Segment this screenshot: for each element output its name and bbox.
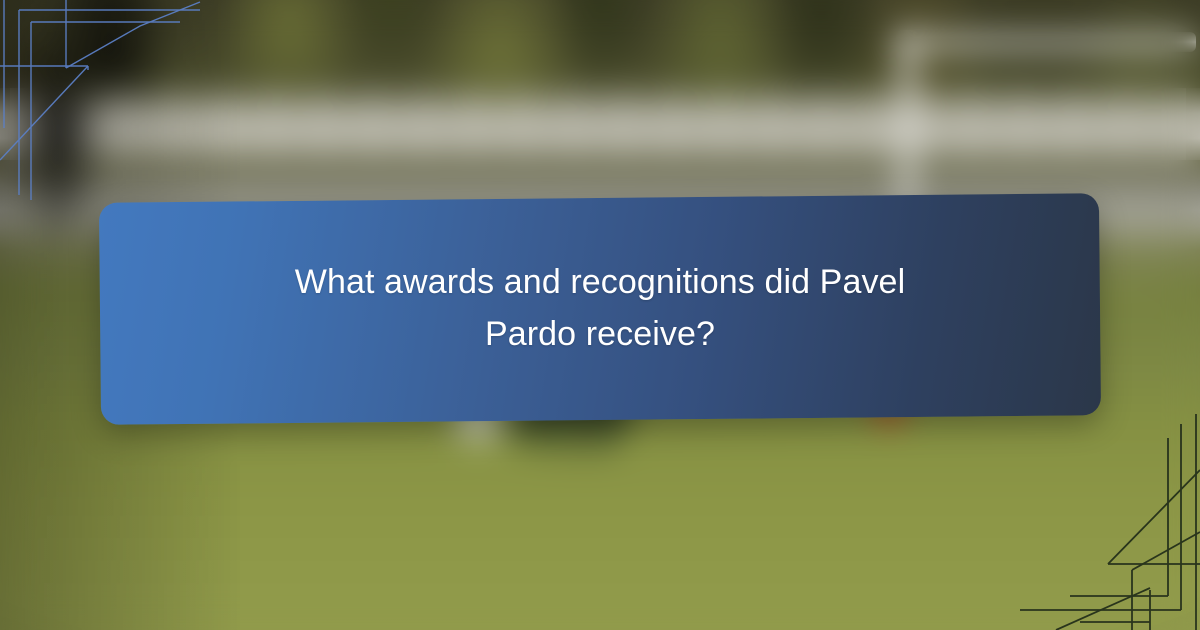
screenshot-canvas: What awards and recognitions did Pavel P… xyxy=(0,0,1200,630)
question-card: What awards and recognitions did Pavel P… xyxy=(99,193,1101,425)
question-text: What awards and recognitions did Pavel P… xyxy=(250,257,950,360)
